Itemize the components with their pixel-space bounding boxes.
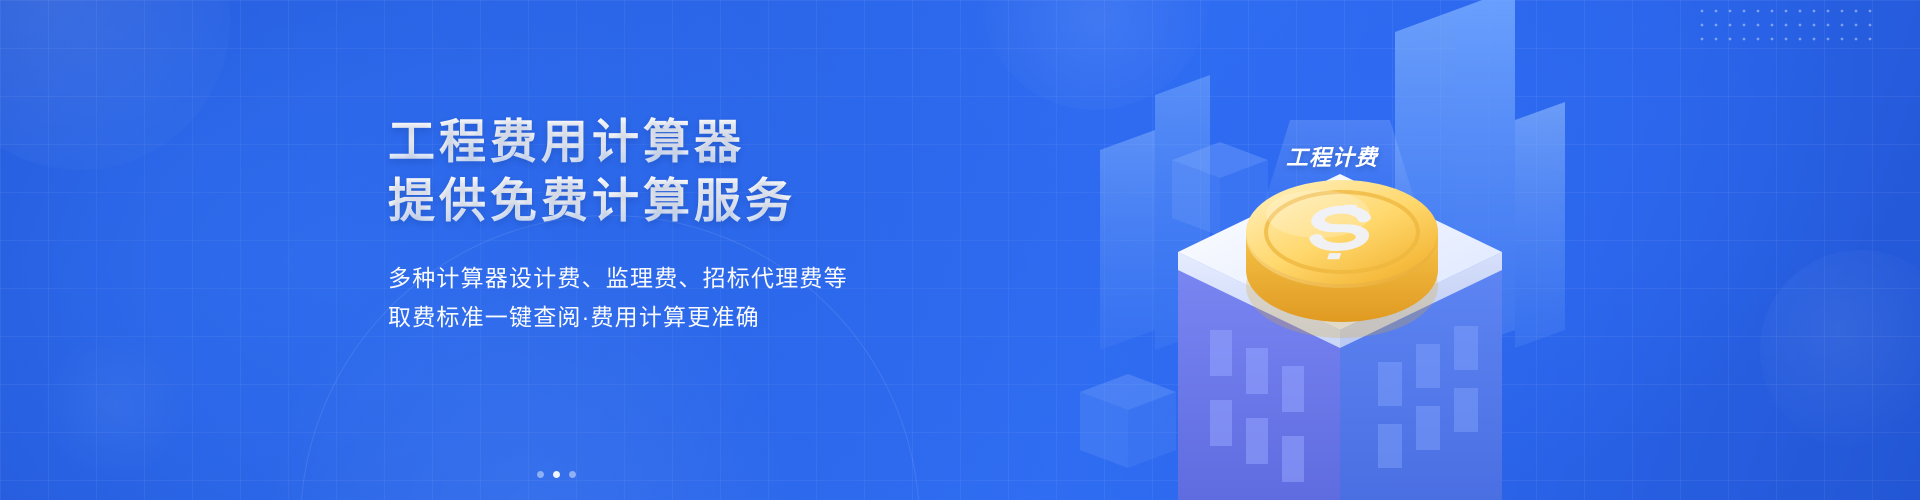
illustration-badge-label: 工程计费 (1286, 140, 1378, 172)
decorative-blob (1760, 250, 1920, 450)
hero-banner: 工程费用计算器 提供免费计算服务 多种计算器设计费、监理费、招标代理费等 取费标… (0, 0, 1920, 500)
decorative-blob (0, 0, 230, 170)
carousel-indicator[interactable] (537, 471, 576, 478)
decorative-blob (40, 330, 190, 480)
banner-copy: 工程费用计算器 提供免费计算服务 多种计算器设计费、监理费、招标代理费等 取费标… (388, 112, 1008, 337)
dot-matrix-decoration (1695, 4, 1875, 48)
banner-title-line-2: 提供免费计算服务 (388, 171, 1008, 230)
gold-coin (1246, 180, 1438, 338)
carousel-dot-2[interactable] (553, 471, 560, 478)
banner-subtitle-line-1: 多种计算器设计费、监理费、招标代理费等 (388, 259, 1008, 298)
carousel-dot-1[interactable] (537, 471, 544, 478)
carousel-dot-3[interactable] (569, 471, 576, 478)
coin-building-illustration (1060, 0, 1620, 500)
banner-subtitle-line-2: 取费标准一键查阅·费用计算更准确 (388, 298, 1008, 337)
banner-subtitle: 多种计算器设计费、监理费、招标代理费等 取费标准一键查阅·费用计算更准确 (388, 259, 1008, 337)
banner-title-line-1: 工程费用计算器 (388, 112, 1008, 171)
